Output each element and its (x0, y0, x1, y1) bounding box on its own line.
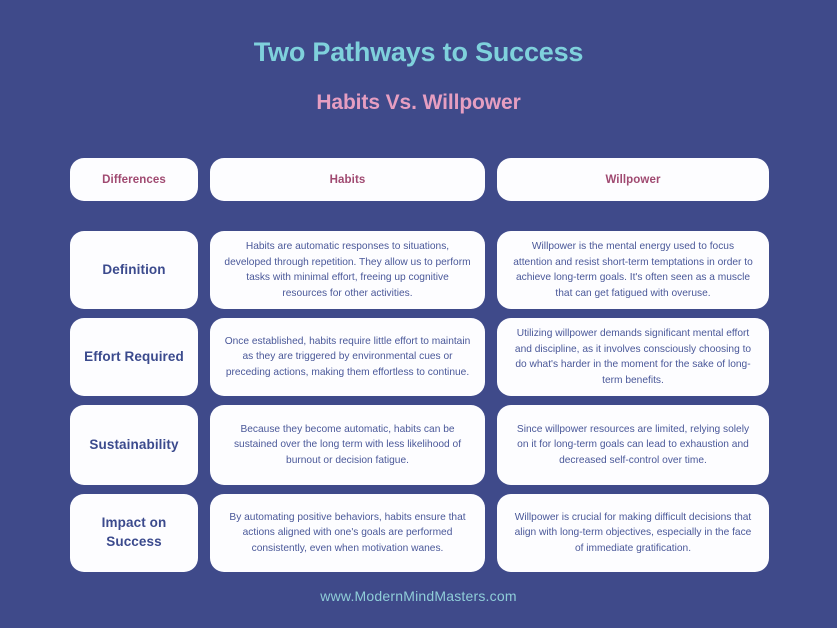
row-sustainability-habits: Because they become automatic, habits ca… (210, 405, 485, 485)
table-row-impact-on-success: Impact on Success By automating positive… (70, 494, 768, 572)
comparison-table: Differences Habits Willpower Definition … (70, 158, 768, 581)
footer-website-url[interactable]: www.ModernMindMasters.com (320, 588, 516, 604)
row-effort-required-habits: Once established, habits require little … (210, 318, 485, 396)
row-effort-required-willpower: Utilizing willpower demands significant … (497, 318, 769, 396)
table-row-sustainability: Sustainability Because they become autom… (70, 405, 768, 485)
header-cell-differences: Differences (70, 158, 198, 201)
title-block: Two Pathways to Success Habits Vs. Willp… (0, 0, 837, 114)
header-cell-habits: Habits (210, 158, 485, 201)
row-label-sustainability: Sustainability (70, 405, 198, 485)
row-impact-on-success-willpower: Willpower is crucial for making difficul… (497, 494, 769, 572)
row-impact-on-success-habits: By automating positive behaviors, habits… (210, 494, 485, 572)
table-row-effort-required: Effort Required Once established, habits… (70, 318, 768, 396)
infographic-canvas: Two Pathways to Success Habits Vs. Willp… (0, 0, 837, 628)
page-title: Two Pathways to Success (0, 38, 837, 68)
row-label-effort-required: Effort Required (70, 318, 198, 396)
row-definition-habits: Habits are automatic responses to situat… (210, 231, 485, 309)
row-label-definition: Definition (70, 231, 198, 309)
footer: www.ModernMindMasters.com (0, 588, 837, 606)
row-definition-willpower: Willpower is the mental energy used to f… (497, 231, 769, 309)
table-row-definition: Definition Habits are automatic response… (70, 231, 768, 309)
row-label-impact-on-success: Impact on Success (70, 494, 198, 572)
row-sustainability-willpower: Since willpower resources are limited, r… (497, 405, 769, 485)
page-subtitle: Habits Vs. Willpower (0, 91, 837, 114)
header-cell-willpower: Willpower (497, 158, 769, 201)
table-header-row: Differences Habits Willpower (70, 158, 768, 201)
